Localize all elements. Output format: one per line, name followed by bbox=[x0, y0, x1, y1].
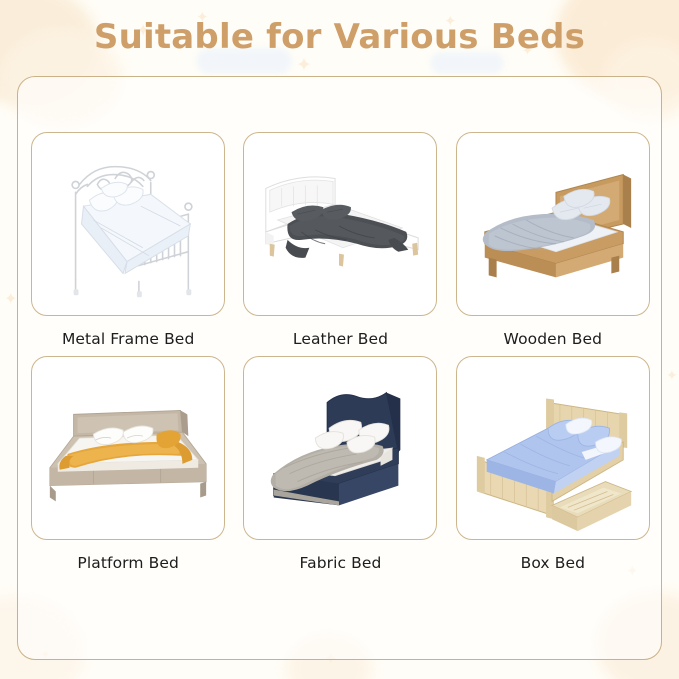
wooden-bed-illustration bbox=[457, 133, 649, 315]
page-title: Suitable for Various Beds bbox=[0, 17, 679, 57]
bed-cell-metal-frame-bed[interactable]: Metal Frame Bed bbox=[30, 132, 226, 348]
bed-cell-fabric-bed[interactable]: Fabric Bed bbox=[242, 356, 438, 572]
bed-image-card[interactable] bbox=[31, 132, 225, 316]
star-icon: ✦ bbox=[296, 56, 312, 75]
bed-cell-wooden-bed[interactable]: Wooden Bed bbox=[455, 132, 651, 348]
leather-bed-illustration bbox=[244, 133, 436, 315]
bed-label: Wooden Bed bbox=[504, 330, 603, 348]
bed-image-card[interactable] bbox=[456, 356, 650, 540]
bed-cell-leather-bed[interactable]: Leather Bed bbox=[242, 132, 438, 348]
bed-label: Platform Bed bbox=[77, 554, 179, 572]
poster-page: ✦ ✦ ✦ ✦ ✦ ✦ ✦ ✦ ✦ ✦ ✦ Suitable for Vario… bbox=[0, 0, 679, 679]
box-bed-illustration bbox=[457, 357, 649, 539]
bed-image-card[interactable] bbox=[243, 132, 437, 316]
bed-image-card[interactable] bbox=[243, 356, 437, 540]
bed-image-card[interactable] bbox=[31, 356, 225, 540]
bed-cell-platform-bed[interactable]: Platform Bed bbox=[30, 356, 226, 572]
bed-label: Box Bed bbox=[521, 554, 585, 572]
metal-frame-bed-illustration bbox=[32, 133, 224, 315]
bed-cell-box-bed[interactable]: Box Bed bbox=[455, 356, 651, 572]
bed-grid: Metal Frame Bed bbox=[30, 132, 651, 572]
star-icon: ✦ bbox=[4, 292, 17, 308]
bed-label: Fabric Bed bbox=[300, 554, 382, 572]
bed-label: Leather Bed bbox=[293, 330, 388, 348]
bed-label: Metal Frame Bed bbox=[62, 330, 194, 348]
star-icon: ✦ bbox=[666, 368, 678, 382]
platform-bed-illustration bbox=[32, 357, 224, 539]
fabric-bed-illustration bbox=[244, 357, 436, 539]
content-frame: Metal Frame Bed bbox=[17, 76, 662, 660]
bed-image-card[interactable] bbox=[456, 132, 650, 316]
